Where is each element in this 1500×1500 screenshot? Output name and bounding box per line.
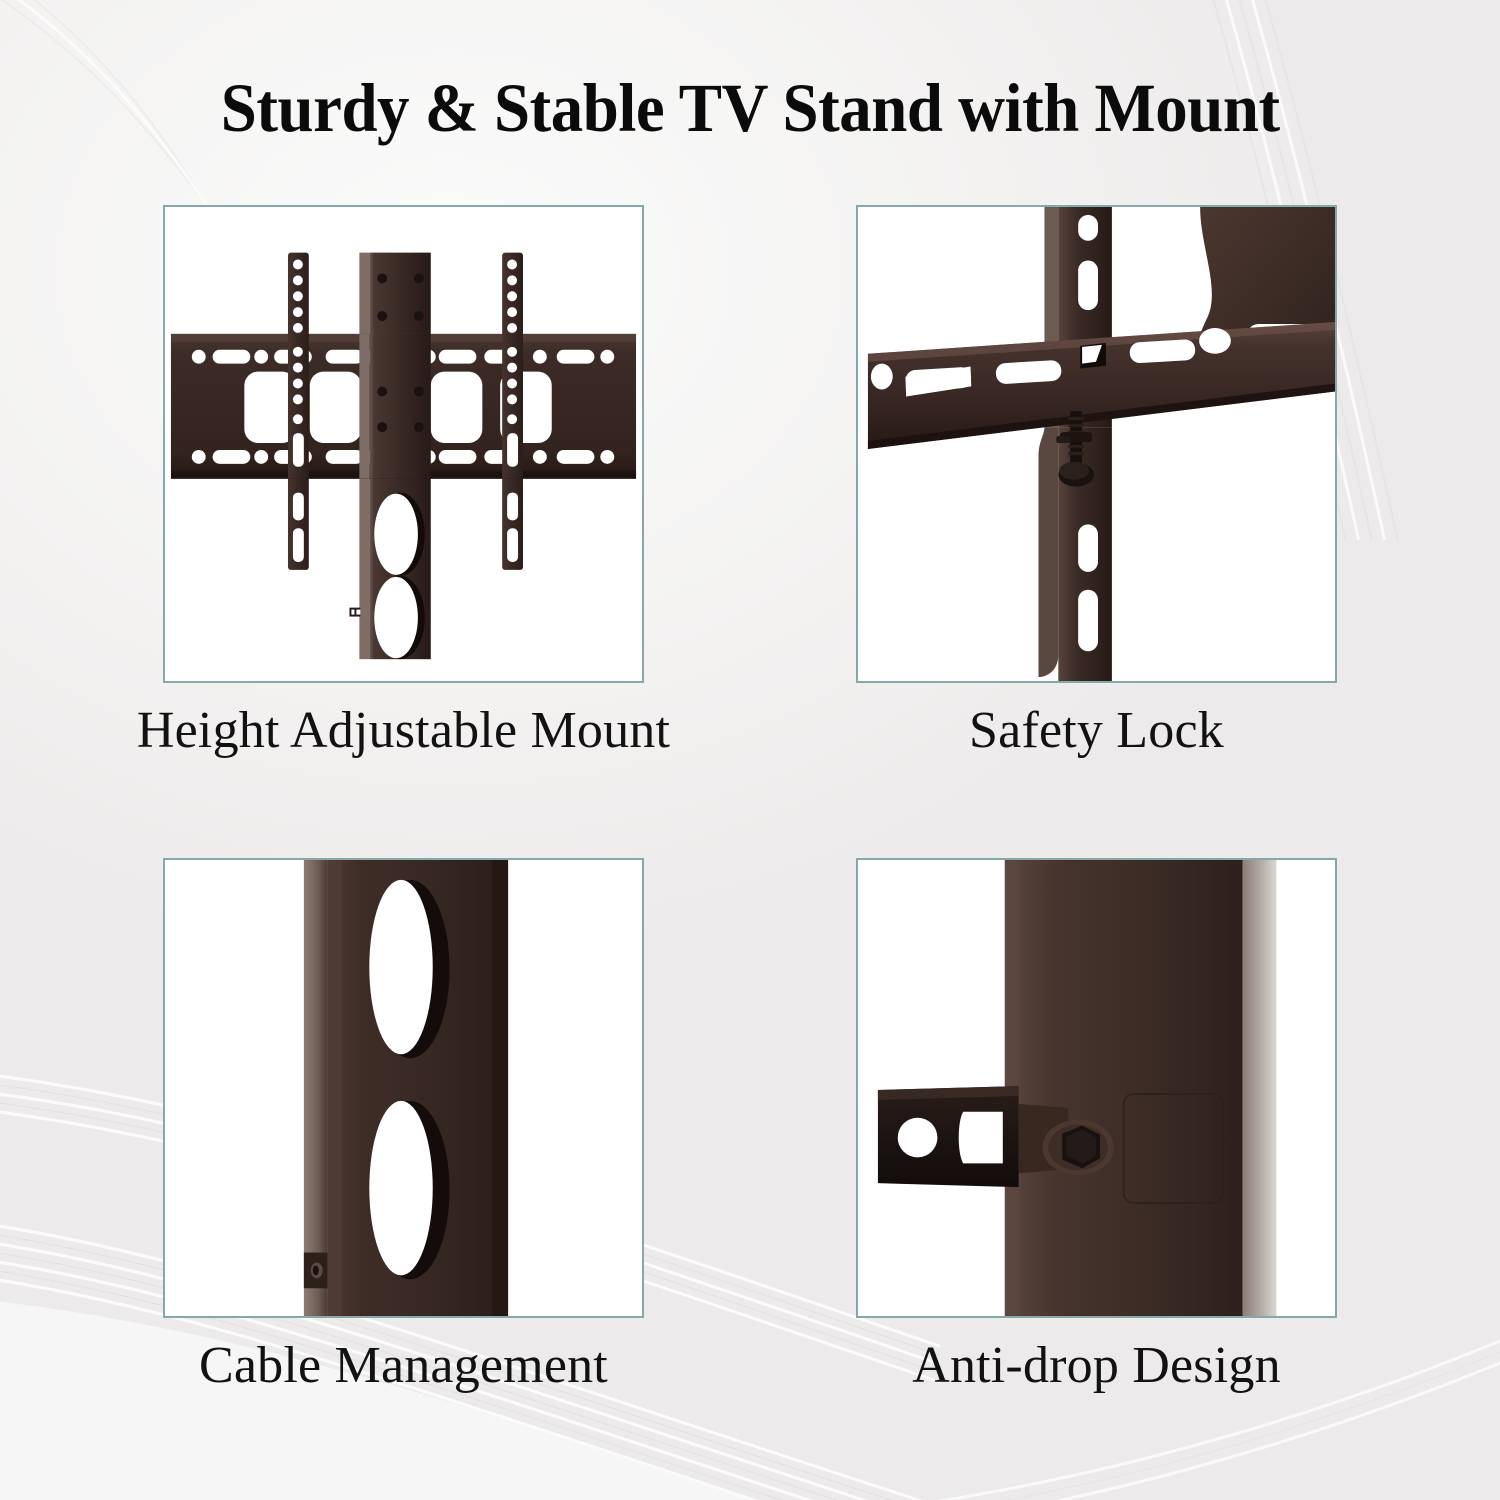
cable-cutout-upper [369,880,449,1058]
pole-side-fastener [304,1253,328,1289]
page-title: Sturdy & Stable TV Stand with Mount [221,68,1280,148]
feature-caption-height-adjustable-mount: Height Adjustable Mount [163,683,644,858]
cable-cutout-lower [369,1101,449,1279]
product-infographic: Sturdy & Stable TV Stand with Mount [0,0,1500,1500]
tv-wall-mount-bracket-photo [163,205,644,683]
feature-grid: Height Adjustable Mount [163,205,1337,1415]
feature-caption-safety-lock: Safety Lock [856,683,1337,858]
feature-caption-anti-drop-design: Anti-drop Design [856,1318,1337,1418]
cable-management-pole-photo [163,858,644,1318]
feature-caption-cable-management: Cable Management [163,1318,644,1418]
safety-lock-screw-photo [856,205,1337,683]
anti-drop-bracket-photo [856,858,1337,1318]
title-bar: Sturdy & Stable TV Stand with Mount [0,22,1500,194]
